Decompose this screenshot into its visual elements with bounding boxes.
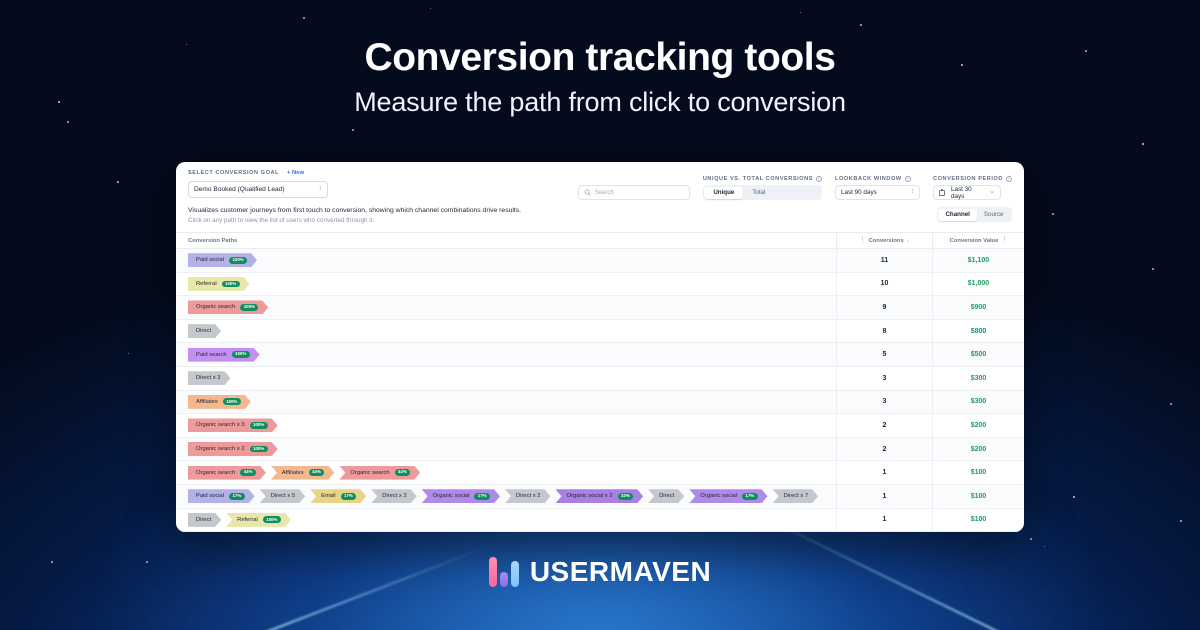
info-icon[interactable]: i (1006, 176, 1012, 182)
path-step-label: Organic social (700, 493, 737, 499)
breakdown-toggle[interactable]: Channel Source (937, 207, 1012, 222)
table-row[interactable]: Paid search100%5$500 (176, 343, 1024, 367)
column-header-conversions[interactable]: ⋮ Conversions ↓ (836, 233, 932, 249)
conversion-goal-block: SELECT CONVERSION GOAL + New Demo Booked… (188, 170, 488, 198)
lookback-window-select[interactable]: Last 90 days ↕ (835, 185, 920, 200)
star (860, 24, 862, 26)
path-step-chip[interactable]: Organic search x 3100% (188, 418, 278, 432)
path-step-label: Direct (196, 328, 211, 334)
page-subtitle: Measure the path from click to conversio… (0, 87, 1200, 118)
path-step-chip[interactable]: Paid social100% (188, 253, 257, 267)
path-step-label: Paid social (196, 493, 224, 499)
conversion-path-cell[interactable]: Referral100% (176, 277, 836, 291)
description-text: Visualizes customer journeys from first … (188, 207, 521, 224)
unique-vs-total-header: UNIQUE VS. TOTAL CONVERSIONS i (703, 176, 822, 182)
lookback-window-value: Last 90 days (841, 189, 877, 196)
conversions-cell: 9 (836, 296, 932, 320)
path-step-label: Direct x 3 (196, 375, 220, 381)
path-step-label: Organic search (196, 470, 235, 476)
star (1180, 520, 1182, 522)
info-icon[interactable]: i (816, 176, 822, 182)
updown-chevron-icon: ↕ (319, 187, 323, 192)
conversion-path-cell[interactable]: Paid search100% (176, 348, 836, 362)
path-step-percentage-badge: 17% (229, 493, 245, 500)
path-step-label: Referral (237, 517, 258, 523)
lookback-window-header: LOOKBACK WINDOW i (835, 176, 920, 182)
star (1152, 268, 1154, 270)
conversions-cell: 10 (836, 272, 932, 296)
star (1142, 143, 1144, 145)
conversion-path-cell[interactable]: Organic search44%Affiliates44%Organic se… (176, 466, 836, 480)
path-step-chip[interactable]: Direct x 2 (371, 489, 416, 503)
sort-descending-icon[interactable]: ↓ (907, 238, 910, 244)
path-step-chip[interactable]: Organic social17% (422, 489, 500, 503)
path-step-percentage-badge: 100% (250, 446, 268, 453)
conversions-cell: 1 (836, 484, 932, 508)
path-step-chip[interactable]: Organic search100% (188, 300, 268, 314)
path-step-percentage-badge: 33% (618, 493, 634, 500)
path-step-percentage-badge: 17% (341, 493, 357, 500)
chevron-down-icon: ⌄ (989, 190, 995, 195)
unique-vs-total-label: UNIQUE VS. TOTAL CONVERSIONS (703, 176, 813, 182)
star (117, 181, 119, 183)
path-step-percentage-badge: 100% (223, 398, 241, 405)
conversion-paths-table: Conversion Paths ⋮ Conversions ↓ Convers… (176, 232, 1024, 532)
path-step-percentage-badge: 44% (309, 469, 325, 476)
column-header-paths-label: Conversion Paths (188, 238, 237, 244)
conversions-cell: 3 (836, 366, 932, 390)
table-row[interactable]: Affiliates100%3$300 (176, 391, 1024, 415)
conversion-value-cell: $100 (932, 484, 1024, 508)
table-row[interactable]: Direct x 33$300 (176, 367, 1024, 391)
conversion-period-group: CONVERSION PERIOD i Last 30 days ⌄ (933, 176, 1012, 200)
path-step-chip[interactable]: Affiliates44% (271, 466, 334, 480)
star (430, 8, 431, 9)
column-divider-handle[interactable]: ⋮ (860, 238, 866, 242)
conversion-path-cell[interactable]: Paid social17%Direct x 5Email17%Direct x… (176, 489, 836, 503)
usermaven-logo: USERMAVEN (0, 556, 1200, 588)
conversions-cell: 11 (836, 249, 932, 273)
path-step-chip[interactable]: Paid search100% (188, 348, 260, 362)
path-step-percentage-badge: 100% (222, 281, 240, 288)
path-step-chip[interactable]: Direct x 7 (773, 489, 818, 503)
path-step-percentage-badge: 100% (250, 422, 268, 429)
conversion-goal-header: SELECT CONVERSION GOAL + New (188, 170, 488, 176)
path-step-percentage-badge: 44% (395, 469, 411, 476)
path-step-percentage-badge: 100% (232, 351, 250, 358)
conversion-path-cell[interactable]: Organic search x 3100% (176, 418, 836, 432)
column-header-value[interactable]: Conversion Value ⋮ (932, 233, 1024, 249)
calendar-icon (939, 190, 945, 196)
path-step-chip[interactable]: Direct (648, 489, 684, 503)
path-step-label: Direct (196, 517, 211, 523)
table-row[interactable]: Organic search44%Affiliates44%Organic se… (176, 461, 1024, 485)
toolbar-right-controls: Search UNIQUE VS. TOTAL CONVERSIONS i Un… (578, 170, 1012, 200)
conversion-value-cell: $800 (932, 319, 1024, 343)
path-step-label: Affiliates (282, 470, 304, 476)
conversions-cell: 2 (836, 414, 932, 438)
conversion-goal-select[interactable]: Demo Booked (Qualified Lead) ↕ (188, 181, 328, 198)
headline-block: Conversion tracking tools Measure the pa… (0, 36, 1200, 118)
path-step-label: Paid search (196, 352, 227, 358)
path-step-percentage-badge: 100% (263, 516, 281, 523)
path-step-chip[interactable]: Organic search x 2100% (188, 442, 278, 456)
logo-bar-blue (511, 561, 519, 587)
path-step-chip[interactable]: Organic search44% (188, 466, 266, 480)
path-step-label: Organic search x 2 (196, 446, 245, 452)
path-step-chip[interactable]: Direct (188, 324, 221, 338)
conversion-path-cell[interactable]: Paid social100% (176, 253, 836, 267)
search-icon (584, 189, 591, 196)
conversions-cell: 8 (836, 319, 932, 343)
toggle-option-unique[interactable]: Unique (704, 187, 743, 199)
conversion-path-cell[interactable]: Direct (176, 324, 836, 338)
logo-bar-purple (500, 572, 508, 587)
conversion-period-header: CONVERSION PERIOD i (933, 176, 1012, 182)
conversions-cell: 2 (836, 437, 932, 461)
path-step-chip[interactable]: Organic social x 233% (555, 489, 643, 503)
path-step-chip[interactable]: Direct x 5 (260, 489, 305, 503)
search-placeholder: Search (595, 190, 614, 196)
star (800, 12, 801, 13)
path-step-percentage-badge: 17% (742, 493, 758, 500)
star (1052, 213, 1054, 215)
conversion-value-cell: $300 (932, 366, 1024, 390)
conversions-cell: 3 (836, 390, 932, 414)
conversion-value-cell: $1,000 (932, 272, 1024, 296)
logo-bars-icon (489, 557, 519, 587)
path-step-chip[interactable]: Referral100% (226, 513, 291, 527)
path-step-label: Direct x 5 (271, 493, 295, 499)
conversion-value-cell: $300 (932, 390, 1024, 414)
table-header-row: Conversion Paths ⋮ Conversions ↓ Convers… (176, 233, 1024, 249)
path-step-label: Direct (659, 493, 674, 499)
description-line-2: Click on any path to view the list of us… (188, 217, 521, 224)
path-step-label: Direct x 7 (784, 493, 808, 499)
path-step-chip[interactable]: Email17% (310, 489, 366, 503)
conversion-path-cell[interactable]: Affiliates100% (176, 395, 836, 409)
lookback-window-group: LOOKBACK WINDOW i Last 90 days ↕ (835, 176, 920, 200)
conversion-path-cell[interactable]: Organic search100% (176, 300, 836, 314)
conversions-cell: 1 (836, 461, 932, 485)
conversion-value-cell: $100 (932, 508, 1024, 532)
path-step-label: Affiliates (196, 399, 218, 405)
star (1030, 538, 1032, 540)
table-row[interactable]: Organic search100%9$900 (176, 296, 1024, 320)
description-line-1: Visualizes customer journeys from first … (188, 207, 521, 214)
path-step-chip[interactable]: Direct x 2 (505, 489, 550, 503)
conversion-period-value: Last 30 days (951, 186, 983, 200)
conversion-value-cell: $900 (932, 296, 1024, 320)
toggle-option-source[interactable]: Source (977, 209, 1011, 221)
path-step-label: Paid social (196, 257, 224, 263)
path-step-percentage-badge: 17% (474, 493, 490, 500)
path-step-label: Referral (196, 281, 217, 287)
path-step-label: Organic social x 2 (566, 493, 612, 499)
app-screenshot-card: SELECT CONVERSION GOAL + New Demo Booked… (176, 162, 1024, 532)
app-toolbar: SELECT CONVERSION GOAL + New Demo Booked… (176, 162, 1024, 200)
toggle-option-total[interactable]: Total (743, 187, 774, 199)
table-row[interactable]: Organic search x 2100%2$200 (176, 438, 1024, 462)
table-row[interactable]: Referral100%10$1,000 (176, 273, 1024, 297)
star (128, 353, 129, 354)
path-step-chip[interactable]: Direct (188, 513, 221, 527)
description-block: Visualizes customer journeys from first … (176, 200, 1024, 224)
conversion-path-cell[interactable]: Direct x 3 (176, 371, 836, 385)
path-step-label: Direct x 2 (516, 493, 540, 499)
conversion-value-cell: $500 (932, 343, 1024, 367)
path-step-label: Organic search x 3 (196, 422, 245, 428)
table-row[interactable]: Direct8$800 (176, 320, 1024, 344)
logo-wordmark: USERMAVEN (530, 556, 711, 588)
conversion-value-cell: $200 (932, 414, 1024, 438)
path-step-chip[interactable]: Affiliates100% (188, 395, 251, 409)
logo-bar-pink (489, 557, 497, 587)
path-step-percentage-badge: 100% (240, 304, 258, 311)
column-header-paths[interactable]: Conversion Paths (176, 238, 836, 244)
conversions-cell: 1 (836, 508, 932, 532)
conversion-path-cell[interactable]: DirectReferral100% (176, 513, 836, 527)
path-step-chip[interactable]: Direct x 3 (188, 371, 230, 385)
conversion-period-label: CONVERSION PERIOD (933, 176, 1003, 182)
column-header-conversions-label: Conversions (869, 238, 904, 244)
path-step-label: Direct x 2 (382, 493, 406, 499)
conversion-period-select[interactable]: Last 30 days ⌄ (933, 185, 1001, 200)
star (352, 129, 354, 131)
path-step-chip[interactable]: Paid social17% (188, 489, 255, 503)
path-step-label: Organic social (433, 493, 470, 499)
unique-vs-total-toggle[interactable]: Unique Total (703, 185, 822, 200)
new-goal-link[interactable]: + New (287, 170, 304, 176)
updown-chevron-icon: ↕ (911, 190, 915, 195)
conversions-cell: 5 (836, 343, 932, 367)
search-input[interactable]: Search (578, 185, 690, 200)
path-step-label: Organic search (196, 304, 235, 310)
path-step-percentage-badge: 100% (229, 257, 247, 264)
path-step-label: Email (321, 493, 336, 499)
star (67, 121, 69, 123)
table-body: Paid social100%11$1,100Referral100%10$1,… (176, 249, 1024, 532)
toggle-option-channel[interactable]: Channel (938, 209, 976, 221)
table-row[interactable]: Paid social17%Direct x 5Email17%Direct x… (176, 485, 1024, 509)
conversion-value-cell: $1,100 (932, 249, 1024, 273)
conversion-path-cell[interactable]: Organic search x 2100% (176, 442, 836, 456)
unique-vs-total-group: UNIQUE VS. TOTAL CONVERSIONS i Unique To… (703, 176, 822, 200)
column-divider-handle[interactable]: ⋮ (1001, 238, 1007, 242)
table-row[interactable]: Organic search x 3100%2$200 (176, 414, 1024, 438)
conversion-goal-value: Demo Booked (Qualified Lead) (194, 186, 285, 193)
path-step-label: Organic search (350, 470, 389, 476)
star (303, 17, 305, 19)
conversion-value-cell: $100 (932, 461, 1024, 485)
column-header-value-label: Conversion Value (950, 238, 999, 244)
lookback-window-label: LOOKBACK WINDOW (835, 176, 902, 182)
path-step-chip[interactable]: Organic social17% (689, 489, 767, 503)
path-step-chip[interactable]: Referral100% (188, 277, 250, 291)
page-title: Conversion tracking tools (0, 36, 1200, 81)
table-row[interactable]: DirectReferral100%1$100 (176, 509, 1024, 532)
table-row[interactable]: Paid social100%11$1,100 (176, 249, 1024, 273)
path-step-percentage-badge: 44% (240, 469, 256, 476)
star (1170, 403, 1172, 405)
conversion-value-cell: $200 (932, 437, 1024, 461)
info-icon[interactable]: i (905, 176, 911, 182)
path-step-chip[interactable]: Organic search44% (339, 466, 420, 480)
conversion-goal-label: SELECT CONVERSION GOAL (188, 170, 279, 176)
